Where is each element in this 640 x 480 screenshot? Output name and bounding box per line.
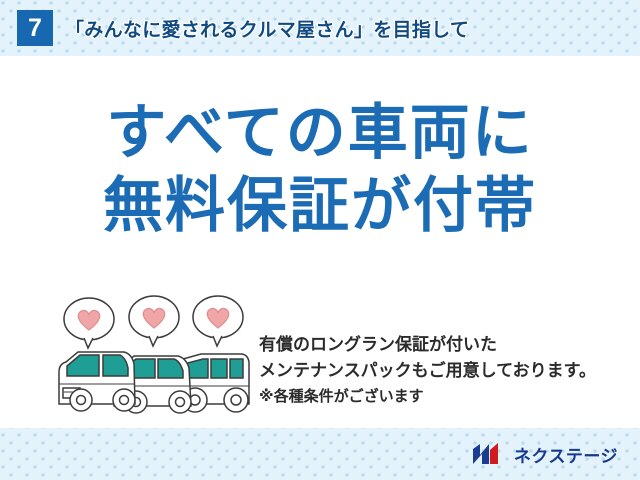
body-copy-line-1: 有償のロングラン保証が付いた	[259, 332, 634, 358]
header-bar: 7 「みんなに愛されるクルマ屋さん」を目指して	[0, 0, 640, 56]
footer-bar: ネクステージ	[0, 428, 640, 480]
cars-illustration	[56, 286, 252, 416]
main-headline: すべての車両に 無料保証が付帯	[0, 96, 640, 242]
content-panel: すべての車両に 無料保証が付帯	[0, 56, 640, 428]
headline-line-1: すべての車両に	[0, 96, 640, 169]
lower-section: 有償のロングラン保証が付いた メンテナンスパックもご用意しております。 ※各種条…	[0, 286, 640, 428]
body-copy-line-2: メンテナンスパックもご用意しております。	[259, 358, 634, 384]
nextage-n-logo-icon	[472, 442, 506, 466]
section-number-badge: 7	[17, 10, 53, 46]
headline-line-2: 無料保証が付帯	[0, 169, 640, 242]
cars-illustration-svg	[56, 286, 252, 416]
slide-root: 7 「みんなに愛されるクルマ屋さん」を目指して すべての車両に 無料保証が付帯	[0, 0, 640, 480]
header-title: 「みんなに愛されるクルマ屋さん」を目指して	[65, 15, 469, 42]
body-copy-note: ※各種条件がございます	[259, 384, 634, 409]
brand-lockup: ネクステージ	[472, 442, 618, 467]
brand-name: ネクステージ	[514, 442, 618, 467]
body-copy: 有償のロングラン保証が付いた メンテナンスパックもご用意しております。 ※各種条…	[259, 332, 634, 409]
car-kei-wagon	[59, 352, 135, 411]
